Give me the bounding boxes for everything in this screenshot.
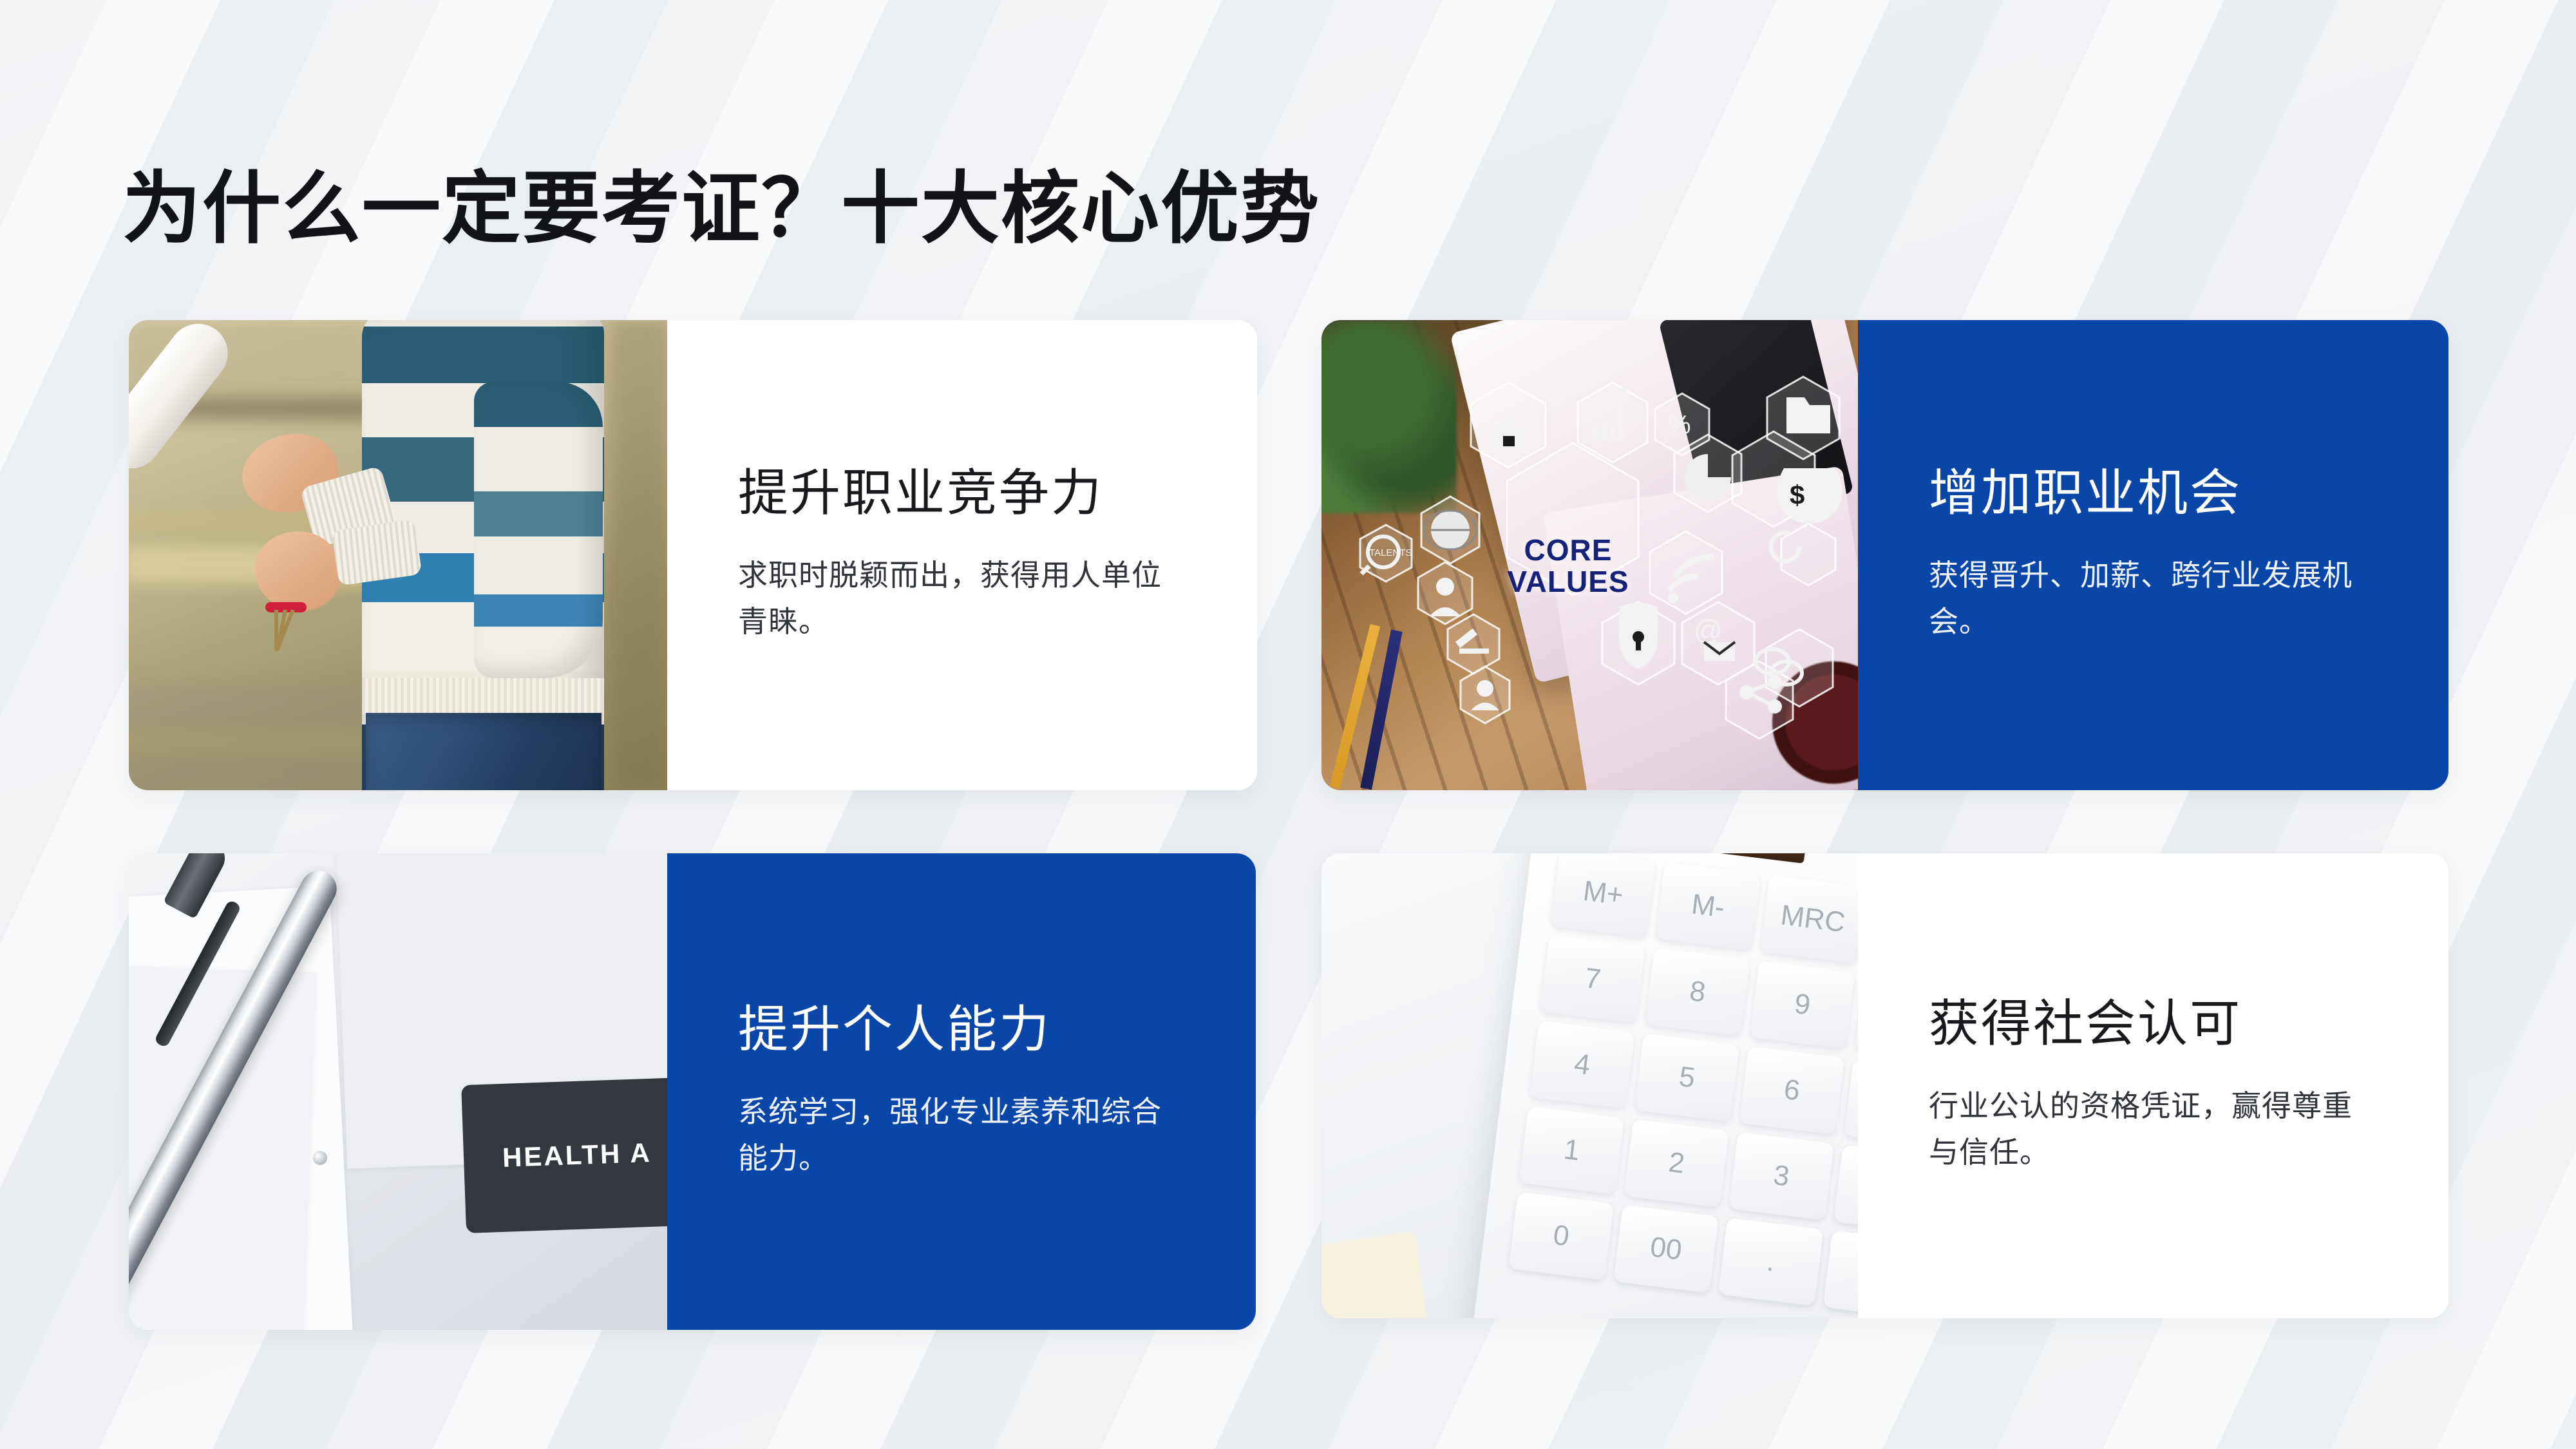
health-label: HEALTH A [461, 1075, 667, 1233]
calculator-key: 1 [1519, 1106, 1625, 1195]
benefit-card-career-competitiveness[interactable]: 提升职业竞争力 求职时脱颖而出，获得用人单位青睐。 [129, 320, 1257, 790]
calculator-key: M- [1656, 862, 1761, 951]
card-title: 提升职业竞争力 [738, 464, 1212, 522]
card-text-panel: 提升个人能力 系统学习，强化专业素养和综合能力。 [667, 853, 1256, 1330]
card-image-social-recognition: M+M-MRCC789%456×123÷000.+ [1321, 853, 1858, 1318]
calculator-key: ÷ [1833, 1145, 1858, 1233]
calculator-key: 0 [1508, 1192, 1614, 1280]
calculator-key: 00 [1613, 1205, 1719, 1293]
svg-text:$: $ [1790, 480, 1804, 510]
core-values-line1: CORE [1524, 535, 1613, 566]
card-title: 提升个人能力 [738, 1001, 1211, 1059]
calculator-key: M+ [1551, 853, 1656, 938]
calculator-key: 4 [1529, 1021, 1635, 1109]
card-title: 获得社会认可 [1929, 995, 2403, 1053]
calculator-key: 2 [1624, 1119, 1730, 1207]
card-text-panel: 提升职业竞争力 求职时脱颖而出，获得用人单位青睐。 [667, 320, 1257, 790]
slide-canvas: 为什么一定要考证？十大核心优势 提升职业竞争力 求职时脱颖而出，获得用人单位青睐… [0, 0, 2576, 1449]
svg-text:TALENTS: TALENTS [1369, 547, 1412, 558]
page-title: 为什么一定要考证？十大核心优势 [122, 161, 1320, 260]
card-text-panel: 获得社会认可 行业公认的资格凭证，赢得尊重与信任。 [1858, 853, 2448, 1318]
card-description: 求职时脱颖而出，获得用人单位青睐。 [738, 553, 1182, 646]
calculator-key: . [1718, 1218, 1824, 1306]
card-image-career-opportunities: % $ [1321, 320, 1858, 790]
calculator-key: + [1823, 1231, 1858, 1318]
core-values-line2: VALUES [1507, 566, 1629, 598]
benefit-card-social-recognition[interactable]: M+M-MRCC789%456×123÷000.+ 获得社会认可 行业公认的资格… [1321, 853, 2448, 1318]
calculator-key: 8 [1645, 948, 1750, 1036]
calculator-key: 6 [1739, 1046, 1845, 1135]
calculator-key: 5 [1634, 1034, 1740, 1122]
calculator-keypad: M+M-MRCC789%456×123÷000.+ [1508, 853, 1858, 1318]
calculator-key: 7 [1540, 935, 1645, 1023]
calculator-key: MRC [1760, 875, 1858, 963]
calculator: M+M-MRCC789%456×123÷000.+ [1471, 853, 1858, 1318]
svg-text:%: % [1668, 411, 1691, 439]
card-image-personal-ability: HEALTH A [129, 853, 667, 1330]
core-values-label: CORE VALUES [1494, 502, 1642, 630]
calculator-key: 9 [1750, 961, 1855, 1049]
calculator-key: 3 [1728, 1132, 1834, 1220]
benefit-card-career-opportunities[interactable]: % $ [1321, 320, 2448, 790]
calculator-key: % [1855, 974, 1858, 1062]
card-image-career-competitiveness [129, 320, 667, 790]
benefit-card-personal-ability[interactable]: HEALTH A 提升个人能力 系统学习，强化专业素养和综合能力。 [129, 853, 1256, 1330]
calculator-key: × [1844, 1059, 1858, 1148]
card-title: 增加职业机会 [1929, 464, 2403, 522]
card-text-panel: 增加职业机会 获得晋升、加薪、跨行业发展机会。 [1858, 320, 2448, 790]
card-description: 行业公认的资格凭证，赢得尊重与信任。 [1929, 1083, 2373, 1177]
card-description: 获得晋升、加薪、跨行业发展机会。 [1929, 553, 2373, 646]
svg-text:@: @ [1694, 614, 1723, 646]
card-description: 系统学习，强化专业素养和综合能力。 [738, 1089, 1182, 1182]
